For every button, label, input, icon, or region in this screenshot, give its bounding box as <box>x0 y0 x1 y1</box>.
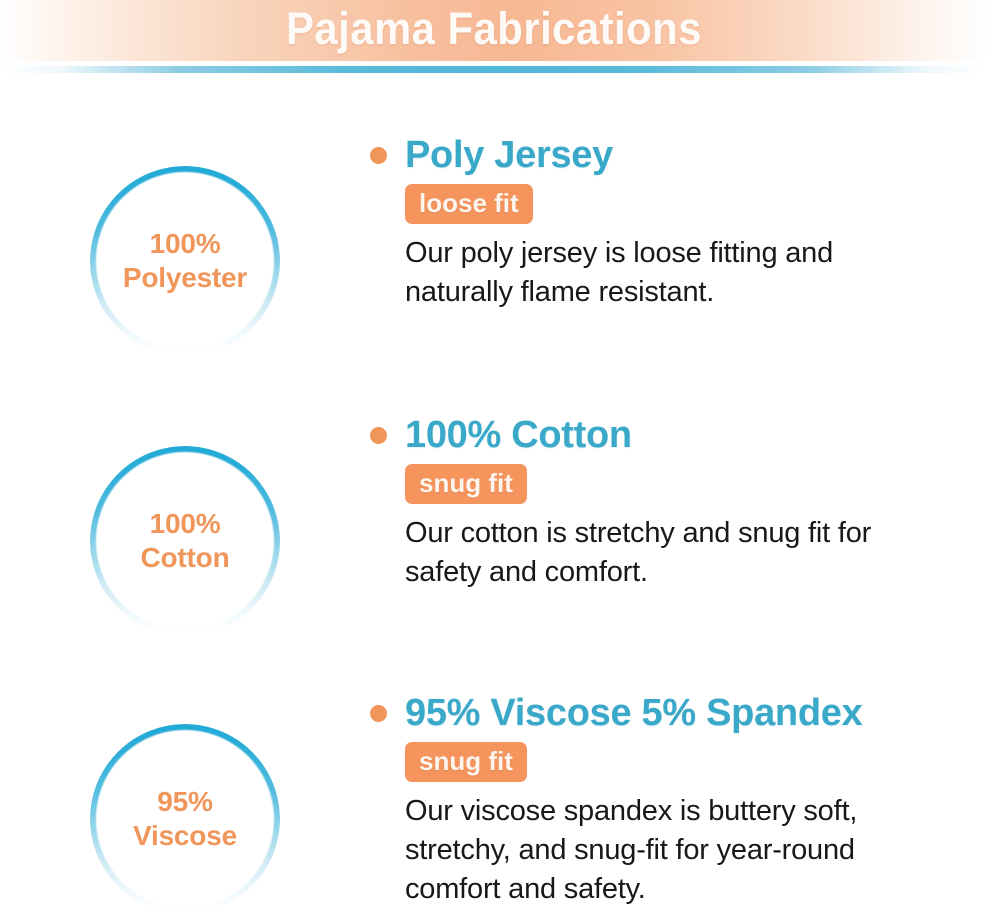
fit-badge: loose fit <box>405 184 533 224</box>
fabrication-text-column: 100% Cotton snug fit Our cotton is stret… <box>370 412 988 592</box>
fabrication-text-column: 95% Viscose 5% Spandex snug fit Our visc… <box>370 690 988 909</box>
heading-line: 95% Viscose 5% Spandex <box>370 690 988 736</box>
fit-badge: snug fit <box>405 464 527 504</box>
composition-circle-viscose: 95% Viscose <box>90 724 280 914</box>
composition-circle-polyester: 100% Polyester <box>90 166 280 356</box>
page-title: Pajama Fabrications <box>35 2 954 56</box>
fabrication-description: Our viscose spandex is buttery soft, str… <box>370 792 930 909</box>
composition-percent: 95% <box>157 785 212 819</box>
circle-column: 100% Polyester <box>0 132 370 362</box>
composition-percent: 100% <box>150 507 221 541</box>
composition-circle-cotton: 100% Cotton <box>90 446 280 636</box>
fabrication-description: Our poly jersey is loose fitting and nat… <box>370 234 930 312</box>
circle-column: 100% Cotton <box>0 412 370 642</box>
header-divider-rule <box>0 66 988 73</box>
composition-percent: 100% <box>150 227 221 261</box>
fabrication-text-column: Poly Jersey loose fit Our poly jersey is… <box>370 132 988 312</box>
bullet-dot-icon <box>370 147 387 164</box>
badge-row: snug fit <box>370 742 988 782</box>
composition-circle-label: 100% Polyester <box>90 166 280 356</box>
fabrication-row-poly-jersey: 100% Polyester Poly Jersey loose fit Our… <box>0 132 988 362</box>
fabrication-description: Our cotton is stretchy and snug fit for … <box>370 514 930 592</box>
fabrication-heading: 95% Viscose 5% Spandex <box>405 690 862 736</box>
heading-line: Poly Jersey <box>370 132 988 178</box>
badge-row: snug fit <box>370 464 988 504</box>
bullet-dot-icon <box>370 427 387 444</box>
fabrication-row-viscose-spandex: 95% Viscose 95% Viscose 5% Spandex snug … <box>0 690 988 920</box>
composition-material: Polyester <box>123 261 247 295</box>
fabrication-row-cotton: 100% Cotton 100% Cotton snug fit Our cot… <box>0 412 988 642</box>
heading-line: 100% Cotton <box>370 412 988 458</box>
fit-badge: snug fit <box>405 742 527 782</box>
fabrication-heading: 100% Cotton <box>405 412 632 458</box>
composition-material: Viscose <box>133 819 237 853</box>
composition-circle-label: 100% Cotton <box>90 446 280 636</box>
circle-column: 95% Viscose <box>0 690 370 920</box>
infographic-page: Pajama Fabrications 100% Polyester Poly … <box>0 0 988 924</box>
composition-circle-label: 95% Viscose <box>90 724 280 914</box>
bullet-dot-icon <box>370 705 387 722</box>
badge-row: loose fit <box>370 184 988 224</box>
fabrication-heading: Poly Jersey <box>405 132 613 178</box>
composition-material: Cotton <box>141 541 230 575</box>
